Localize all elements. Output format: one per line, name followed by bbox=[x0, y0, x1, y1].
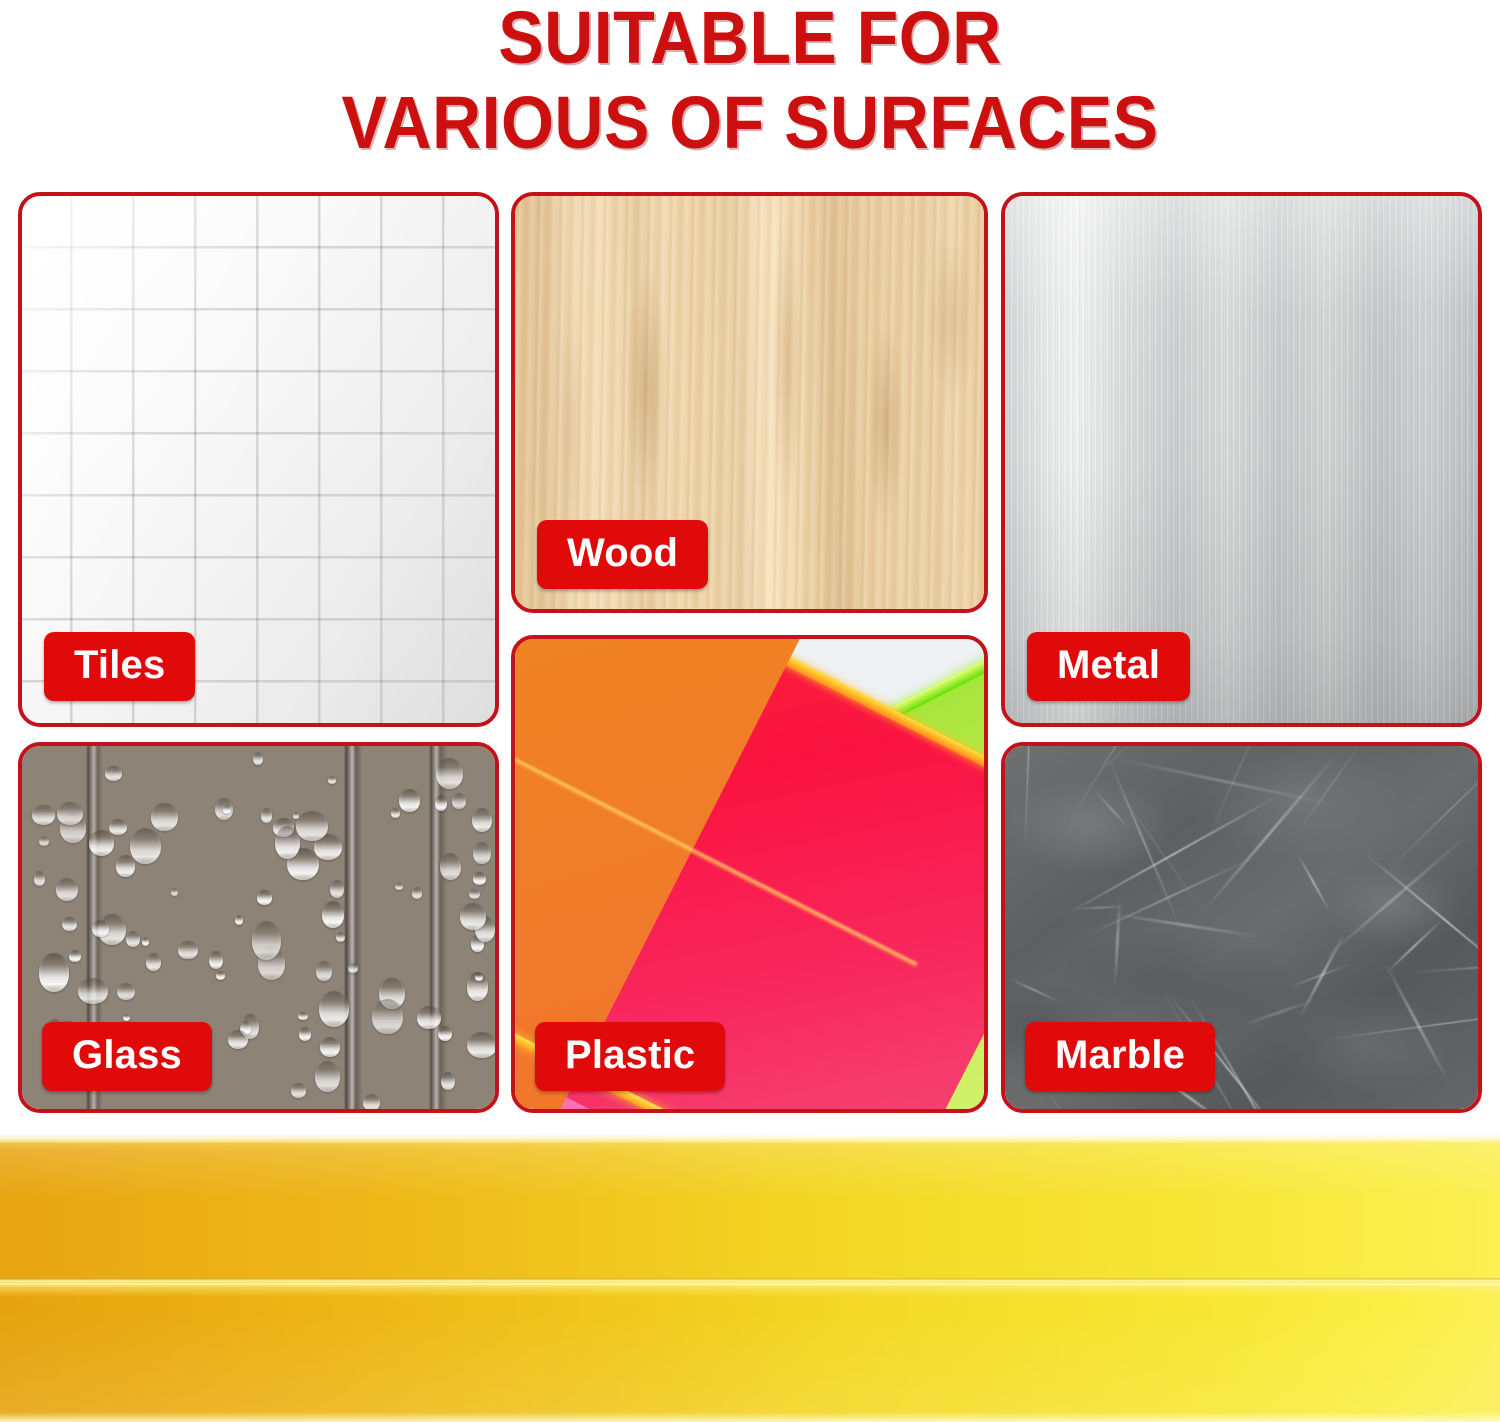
surface-label-marble: Marble bbox=[1025, 1022, 1215, 1091]
water-droplet bbox=[146, 953, 161, 971]
water-droplet bbox=[471, 935, 484, 951]
surface-card-tiles: Tiles bbox=[18, 192, 499, 727]
water-droplet bbox=[92, 920, 109, 936]
water-droplet bbox=[60, 813, 86, 843]
water-droplet bbox=[34, 871, 45, 886]
water-droplet bbox=[467, 972, 488, 1000]
water-droplet bbox=[336, 932, 345, 942]
marble-vein bbox=[1008, 977, 1061, 1003]
water-droplet bbox=[391, 808, 399, 817]
water-droplet bbox=[314, 834, 342, 860]
water-droplet bbox=[473, 842, 491, 864]
water-droplet bbox=[296, 811, 328, 841]
strip-upper-face bbox=[0, 1135, 1500, 1283]
surface-label-metal: Metal bbox=[1027, 632, 1190, 701]
marble-vein bbox=[1105, 755, 1340, 807]
water-droplet bbox=[319, 991, 349, 1027]
marble-vein bbox=[1406, 957, 1478, 974]
water-droplet bbox=[438, 1026, 452, 1041]
marble-vein bbox=[1255, 746, 1381, 762]
water-droplet bbox=[32, 805, 55, 825]
water-droplet bbox=[467, 1032, 495, 1058]
marble-vein bbox=[1113, 897, 1121, 988]
water-droplet bbox=[330, 880, 344, 898]
water-droplet bbox=[261, 808, 272, 822]
water-droplet bbox=[412, 887, 422, 898]
marble-vein bbox=[1199, 752, 1339, 916]
marble-vein bbox=[1384, 962, 1451, 1085]
water-droplet bbox=[116, 855, 135, 876]
page-title: SUITABLE FOR VARIOUS OF SURFACES bbox=[0, 2, 1500, 159]
water-droplet bbox=[98, 914, 126, 945]
marble-vein bbox=[1384, 746, 1478, 875]
strip-bottom-bevel bbox=[0, 1412, 1500, 1422]
water-droplet bbox=[395, 883, 403, 890]
water-droplet bbox=[171, 888, 178, 897]
water-droplet bbox=[460, 903, 486, 930]
strip-top-bevel bbox=[0, 1135, 1500, 1143]
surface-card-metal: Metal bbox=[1001, 192, 1482, 727]
marble-vein bbox=[1080, 855, 1259, 940]
marble-vein bbox=[1296, 852, 1331, 912]
water-droplet bbox=[298, 1012, 307, 1020]
water-droplet bbox=[348, 963, 358, 972]
water-droplet bbox=[178, 941, 197, 959]
water-droplet bbox=[56, 878, 78, 901]
water-droplet bbox=[216, 971, 225, 980]
water-droplet bbox=[291, 1083, 305, 1098]
water-droplet bbox=[105, 766, 123, 781]
water-droplet bbox=[469, 889, 480, 899]
water-droplet bbox=[316, 961, 332, 981]
marble-vein bbox=[1071, 905, 1128, 909]
water-droplet bbox=[322, 901, 345, 928]
water-droplet bbox=[436, 758, 463, 789]
surface-card-wood: Wood bbox=[511, 192, 988, 613]
water-droplet bbox=[372, 999, 403, 1033]
water-droplet bbox=[399, 789, 419, 812]
water-droplet bbox=[435, 795, 447, 810]
marble-vein bbox=[1067, 746, 1193, 825]
water-droplet bbox=[472, 808, 493, 833]
water-droplet bbox=[452, 793, 467, 809]
water-droplet bbox=[209, 951, 223, 970]
surface-label-wood: Wood bbox=[537, 520, 708, 589]
water-droplet bbox=[293, 812, 299, 818]
water-droplet bbox=[235, 915, 243, 925]
water-droplet bbox=[328, 776, 336, 783]
marble-vein bbox=[1106, 754, 1181, 929]
water-droplet bbox=[299, 1027, 311, 1040]
marble-vein bbox=[1238, 997, 1319, 1028]
water-droplet bbox=[320, 1037, 340, 1057]
water-droplet bbox=[440, 853, 461, 880]
surface-card-glass: Glass bbox=[18, 742, 499, 1113]
marble-vein bbox=[1107, 775, 1211, 923]
surface-label-glass: Glass bbox=[42, 1022, 212, 1091]
water-droplet bbox=[142, 937, 149, 946]
marble-vein bbox=[1291, 746, 1369, 841]
product-blade-strip bbox=[0, 1135, 1500, 1422]
surface-card-marble: Marble bbox=[1001, 742, 1482, 1113]
marble-vein bbox=[1298, 932, 1346, 1019]
title-line-1: SUITABLE FOR bbox=[60, 2, 1440, 75]
water-droplet bbox=[240, 1021, 251, 1034]
water-droplet bbox=[39, 953, 70, 991]
water-droplet bbox=[473, 872, 486, 885]
water-droplet bbox=[253, 752, 263, 765]
water-droplet bbox=[151, 803, 178, 831]
marble-vein bbox=[1093, 789, 1131, 830]
water-droplet bbox=[241, 1014, 260, 1039]
marble-vein bbox=[1362, 850, 1478, 991]
water-droplet bbox=[417, 1006, 442, 1029]
water-droplet bbox=[252, 921, 282, 960]
surface-card-plastic: Plastic bbox=[511, 635, 988, 1113]
marble-vein bbox=[1319, 832, 1471, 964]
water-droplet bbox=[126, 931, 140, 947]
water-droplet bbox=[130, 828, 161, 864]
water-droplet bbox=[123, 1014, 130, 1021]
water-droplet bbox=[363, 1094, 380, 1109]
water-droplet bbox=[257, 890, 272, 904]
surface-label-tiles: Tiles bbox=[44, 632, 195, 701]
water-droplet bbox=[475, 973, 483, 981]
water-droplet bbox=[62, 917, 77, 931]
marble-vein bbox=[1384, 919, 1442, 975]
water-droplet bbox=[117, 983, 135, 1000]
water-droplet bbox=[69, 950, 81, 962]
water-droplet bbox=[441, 1072, 455, 1090]
title-line-2: VARIOUS OF SURFACES bbox=[60, 87, 1440, 160]
surface-label-plastic: Plastic bbox=[535, 1022, 725, 1091]
water-droplet bbox=[475, 916, 495, 942]
marble-vein bbox=[1063, 792, 1283, 916]
water-droplet bbox=[273, 818, 295, 837]
water-droplet bbox=[89, 830, 114, 856]
strip-lower-face bbox=[0, 1283, 1500, 1422]
water-droplet bbox=[315, 1061, 340, 1093]
marble-vein bbox=[1318, 1004, 1478, 1041]
water-droplet bbox=[258, 946, 285, 979]
marble-vein bbox=[1108, 912, 1260, 938]
water-droplet bbox=[287, 848, 318, 880]
marble-vein bbox=[1099, 746, 1132, 772]
water-droplet bbox=[223, 805, 231, 813]
water-droplet bbox=[215, 798, 233, 821]
water-droplet bbox=[275, 826, 300, 859]
water-droplet bbox=[57, 802, 83, 825]
water-droplet bbox=[78, 978, 108, 1004]
marble-vein bbox=[1025, 746, 1033, 850]
water-droplet bbox=[109, 819, 127, 835]
marble-vein bbox=[1199, 746, 1275, 855]
water-droplet bbox=[39, 836, 49, 846]
marble-vein bbox=[1046, 1089, 1163, 1109]
water-droplet bbox=[228, 1030, 248, 1049]
water-droplet bbox=[379, 978, 405, 1009]
marble-vein bbox=[1287, 963, 1351, 988]
